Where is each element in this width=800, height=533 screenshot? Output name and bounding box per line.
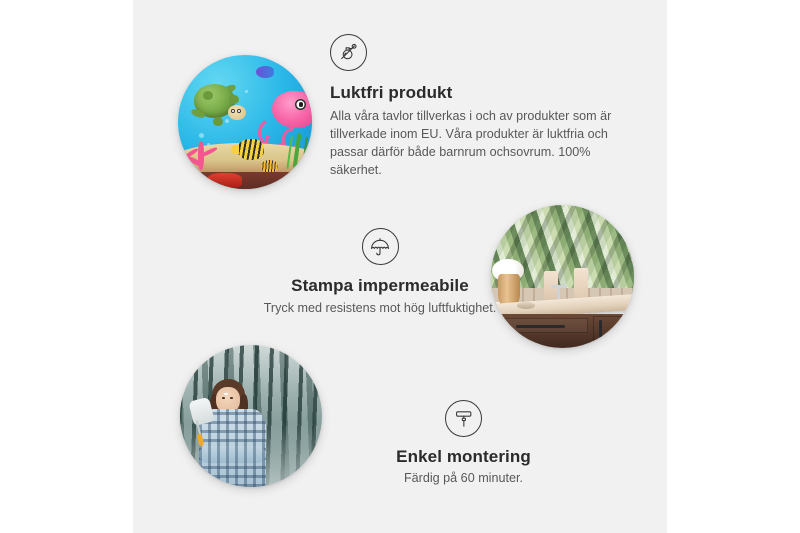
feature-odour-free: Luktfri produkt Alla våra tavlor tillver… — [330, 34, 630, 180]
bubble-icon — [245, 90, 248, 93]
painter-woman — [194, 379, 274, 487]
feature-waterproof-print: Stampa impermeabile Tryck med resistens … — [225, 228, 535, 318]
feature-title: Enkel montering — [331, 446, 596, 467]
turtle-illustration — [190, 84, 244, 130]
feature-body: Alla våra tavlor tillverkas i och av pro… — [330, 108, 620, 180]
feature-body: Tryck med resistens mot hög luftfuktighe… — [225, 300, 535, 318]
red-accent — [207, 173, 242, 188]
faucet — [557, 285, 560, 299]
no-fragrance-icon — [330, 34, 367, 71]
photo-underwater-kids-mural — [178, 55, 312, 189]
coral-illustration — [181, 130, 227, 170]
feature-body: Färdig på 60 minuter. — [331, 470, 596, 488]
octopus-illustration — [257, 91, 312, 150]
icon-row — [225, 228, 535, 265]
fish-purple — [256, 66, 275, 78]
feature-easy-mounting: Enkel montering Färdig på 60 minuter. — [331, 400, 596, 488]
photo-bottom-band — [178, 172, 312, 189]
promo-graphic: Luktfri produkt Alla våra tavlor tillver… — [0, 0, 800, 533]
umbrella-icon — [362, 228, 399, 265]
icon-row — [330, 34, 630, 71]
feature-title: Stampa impermeabile — [225, 275, 535, 296]
icon-row — [331, 400, 596, 437]
content-panel: Luktfri produkt Alla våra tavlor tillver… — [133, 0, 667, 533]
photo-painter-forest-wallpaper — [180, 345, 322, 487]
paint-roller-prop — [191, 399, 212, 446]
paint-roller-icon — [445, 400, 482, 437]
fish-striped — [237, 139, 264, 159]
feature-title: Luktfri produkt — [330, 82, 630, 103]
vanity-cabinet — [491, 314, 634, 348]
